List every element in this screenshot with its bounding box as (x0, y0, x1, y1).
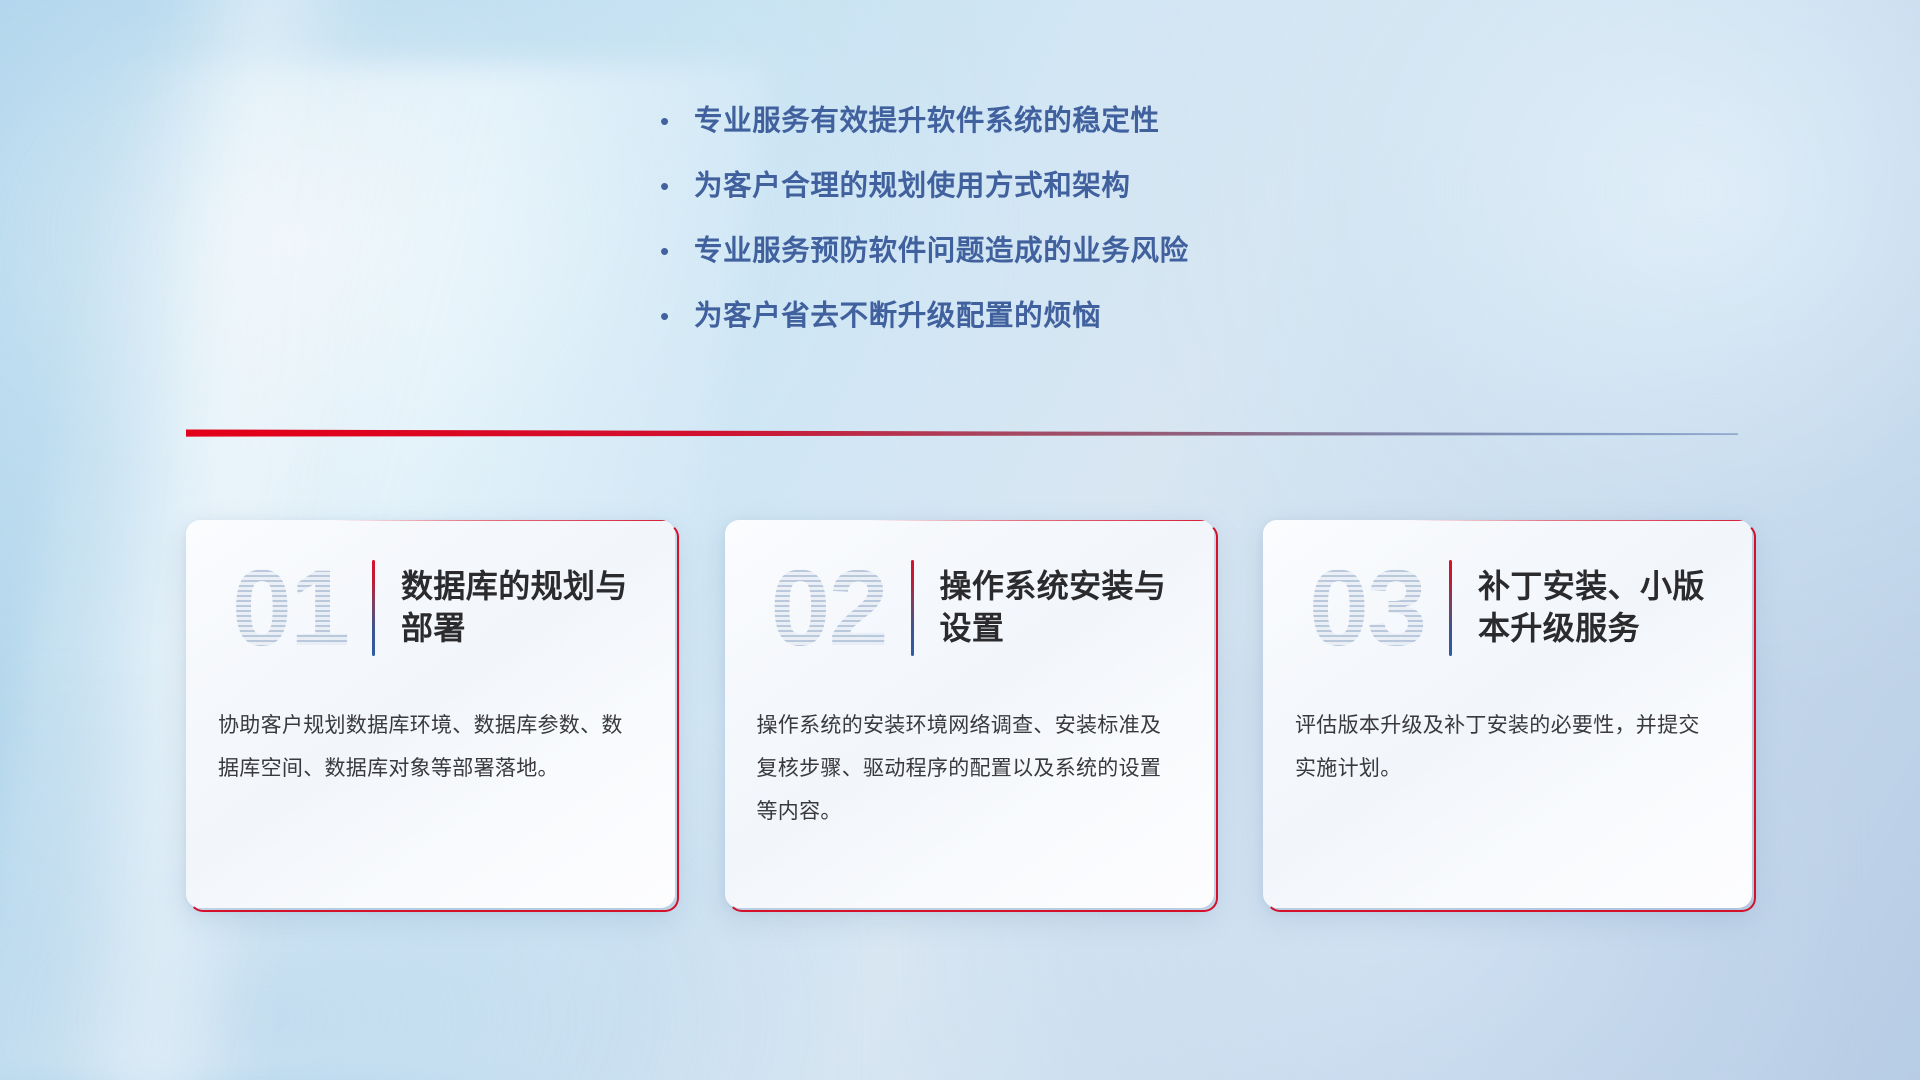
card-body-text: 操作系统的安装环境网络调查、安装标准及复核步骤、驱动程序的配置以及系统的设置等内… (725, 696, 1214, 833)
card-number-wrap: 01 01 (214, 550, 366, 666)
card-number-wrap: 03 03 (1291, 550, 1443, 666)
service-card[interactable]: 01 01 数据库的规划与部署 协助客户规划数据库环境、数据库参数、数据库空间、… (186, 520, 675, 908)
benefits-bullet-list: • 专业服务有效提升软件系统的稳定性 • 为客户合理的规划使用方式和架构 • 专… (660, 104, 1480, 364)
card-inner: 03 03 补丁安装、小版本升级服务 评估版本升级及补丁安装的必要性，并提交实施… (1263, 520, 1752, 908)
service-card[interactable]: 03 03 补丁安装、小版本升级服务 评估版本升级及补丁安装的必要性，并提交实施… (1263, 520, 1752, 908)
card-title: 补丁安装、小版本升级服务 (1478, 566, 1752, 649)
list-item: • 专业服务有效提升软件系统的稳定性 (660, 104, 1480, 140)
bullet-text: 专业服务有效提升软件系统的稳定性 (694, 104, 1160, 140)
card-number: 03 (1291, 550, 1443, 666)
service-card-list: 01 01 数据库的规划与部署 协助客户规划数据库环境、数据库参数、数据库空间、… (186, 520, 1752, 920)
bullet-text: 为客户省去不断升级配置的烦恼 (694, 299, 1101, 335)
slide-canvas: • 专业服务有效提升软件系统的稳定性 • 为客户合理的规划使用方式和架构 • 专… (0, 0, 1920, 1080)
card-number: 02 (753, 550, 905, 666)
card-title-rule (911, 560, 914, 656)
card-header: 03 03 补丁安装、小版本升级服务 (1263, 520, 1752, 696)
card-title: 数据库的规划与部署 (401, 566, 675, 649)
bullet-dot-icon: • (660, 173, 694, 199)
list-item: • 为客户省去不断升级配置的烦恼 (660, 299, 1480, 335)
card-header: 02 02 操作系统安装与设置 (725, 520, 1214, 696)
bullet-dot-icon: • (660, 238, 694, 264)
card-header: 01 01 数据库的规划与部署 (186, 520, 675, 696)
bullet-dot-icon: • (660, 108, 694, 134)
list-item: • 为客户合理的规划使用方式和架构 (660, 169, 1480, 205)
card-title-rule (1449, 560, 1452, 656)
card-body-text: 协助客户规划数据库环境、数据库参数、数据库空间、数据库对象等部署落地。 (186, 696, 675, 790)
bullet-text: 专业服务预防软件问题造成的业务风险 (694, 234, 1189, 270)
card-number: 01 (214, 550, 366, 666)
card-title: 操作系统安装与设置 (940, 566, 1214, 649)
section-divider (186, 424, 1738, 446)
service-card[interactable]: 02 02 操作系统安装与设置 操作系统的安装环境网络调查、安装标准及复核步骤、… (725, 520, 1214, 908)
card-number-wrap: 02 02 (753, 550, 905, 666)
list-item: • 专业服务预防软件问题造成的业务风险 (660, 234, 1480, 270)
divider-shape-icon (186, 424, 1738, 446)
card-inner: 01 01 数据库的规划与部署 协助客户规划数据库环境、数据库参数、数据库空间、… (186, 520, 675, 908)
card-body-text: 评估版本升级及补丁安装的必要性，并提交实施计划。 (1263, 696, 1752, 790)
card-inner: 02 02 操作系统安装与设置 操作系统的安装环境网络调查、安装标准及复核步骤、… (725, 520, 1214, 908)
bullet-text: 为客户合理的规划使用方式和架构 (694, 169, 1131, 205)
card-title-rule (372, 560, 375, 656)
bullet-dot-icon: • (660, 303, 694, 329)
